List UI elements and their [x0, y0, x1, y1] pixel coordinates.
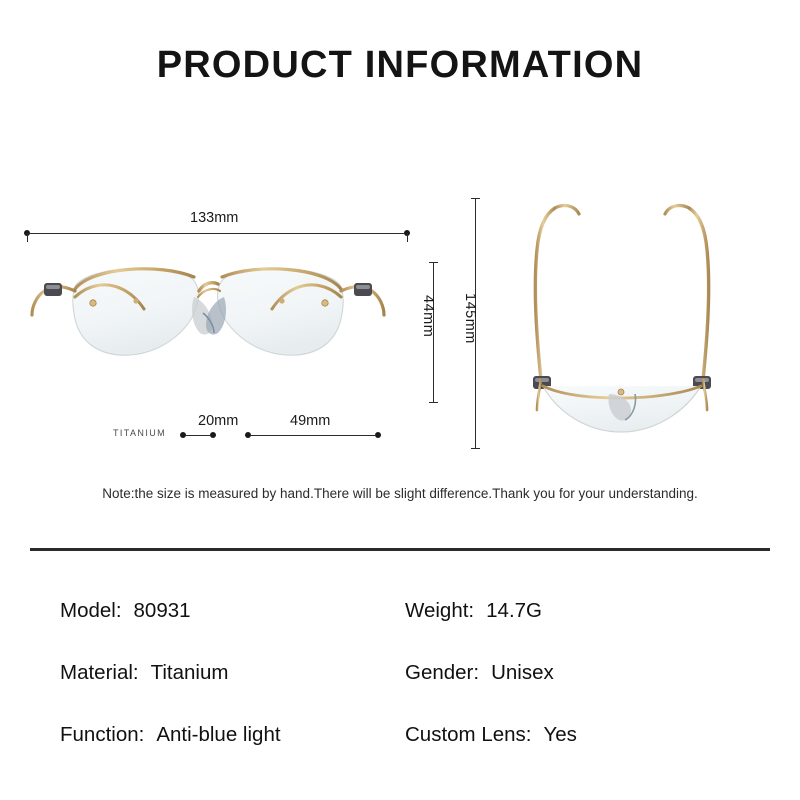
measure-tick [429, 402, 438, 403]
spec-custom-lens: Custom Lens: Yes [405, 723, 577, 747]
spec-value: 80931 [134, 599, 191, 623]
spec-value: Yes [543, 723, 576, 747]
measure-label-temple: 145mm [462, 293, 478, 344]
measure-tick [471, 198, 480, 199]
measure-label-height: 44mm [420, 295, 436, 337]
size-note: Note:the size is measured by hand.There … [0, 486, 800, 501]
spec-weight: Weight: 14.7G [405, 599, 542, 623]
measure-tick [471, 448, 480, 449]
spec-label: Model: [60, 599, 122, 623]
spec-model: Model: 80931 [60, 599, 405, 623]
spec-material: Material: Titanium [60, 661, 405, 685]
table-row: Material: Titanium Gender: Unisex [60, 642, 760, 704]
spec-label: Gender: [405, 661, 479, 685]
glasses-front-view-illustration: TITANIUM [18, 245, 408, 385]
spec-value: Anti-blue light [156, 723, 280, 747]
measure-label-lens: 49mm [290, 413, 330, 429]
measure-rule-lens [250, 435, 376, 436]
spec-value: Titanium [151, 661, 229, 685]
section-divider [30, 548, 770, 551]
measure-label-bridge: 20mm [198, 413, 238, 429]
spec-gender: Gender: Unisex [405, 661, 554, 685]
table-row: Function: Anti-blue light Custom Lens: Y… [60, 704, 760, 766]
glasses-folded-view-illustration [475, 180, 765, 460]
page-title: PRODUCT INFORMATION [0, 44, 800, 87]
measure-rule-bridge [186, 435, 211, 436]
spec-function: Function: Anti-blue light [60, 723, 405, 747]
table-row: Model: 80931 Weight: 14.7G [60, 580, 760, 642]
measure-tick [407, 233, 408, 242]
brand-engraving: TITANIUM [113, 428, 166, 438]
product-diagram: TITANIUM [0, 170, 800, 470]
measure-tick [27, 233, 28, 242]
spec-label: Function: [60, 723, 144, 747]
spec-label: Material: [60, 661, 139, 685]
measure-rule-width [27, 233, 407, 234]
measure-label-width: 133mm [190, 210, 238, 226]
spec-value: 14.7G [486, 599, 542, 623]
spec-value: Unisex [491, 661, 554, 685]
measure-tick [429, 262, 438, 263]
specification-table: Model: 80931 Weight: 14.7G Material: Tit… [60, 580, 760, 766]
spec-label: Weight: [405, 599, 474, 623]
spec-label: Custom Lens: [405, 723, 531, 747]
